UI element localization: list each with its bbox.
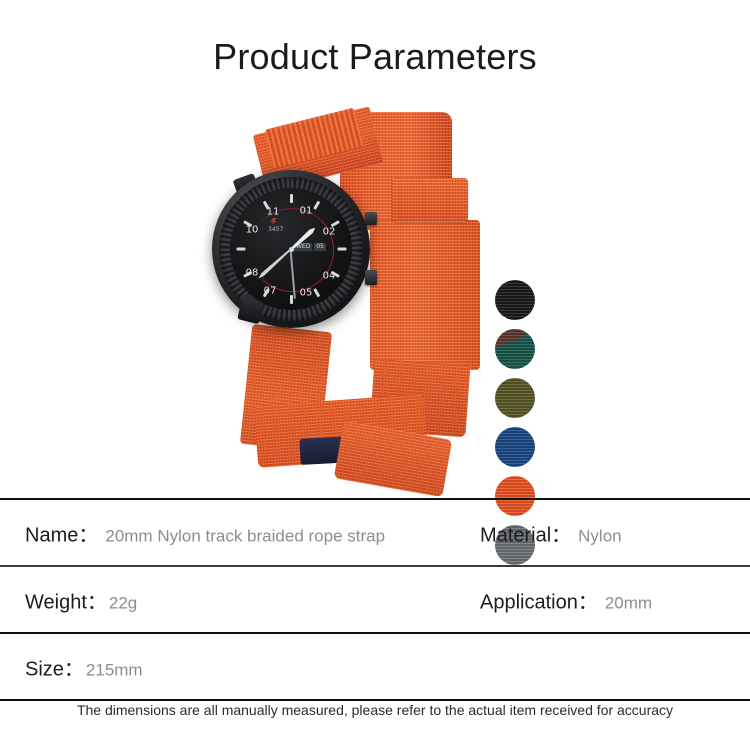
- swatch-split-overlay: [495, 329, 526, 348]
- dial-tick: [290, 295, 293, 304]
- param-material-value: Nylon: [578, 526, 621, 546]
- param-name-value: 20mm Nylon track braided rope strap: [105, 526, 385, 546]
- table-row: Size： 215mm: [0, 634, 750, 699]
- param-material: Material： Nylon: [480, 518, 622, 547]
- dial-center-pin: [289, 247, 294, 252]
- dial-hour-08: 08: [246, 268, 259, 279]
- weave-texture: [370, 220, 480, 370]
- color-swatch-dark-green[interactable]: [495, 329, 535, 369]
- strap-keeper-loop: [392, 178, 468, 222]
- param-weight-label: Weight：: [25, 585, 107, 614]
- param-application: Application： 20mm: [480, 585, 652, 614]
- param-size-label: Size：: [25, 652, 84, 681]
- param-name-label: Name：: [25, 518, 98, 547]
- dial-step-count: 3457: [268, 226, 283, 233]
- param-name: Name： 20mm Nylon track braided rope stra…: [25, 518, 385, 547]
- dial-hour-07: 07: [264, 286, 277, 297]
- dial-hour-11: 11: [267, 207, 280, 218]
- table-row: Name： 20mm Nylon track braided rope stra…: [0, 500, 750, 565]
- smartwatch: 01 02 04 05 07 08 10 11 3457 WED 05: [212, 170, 370, 328]
- param-material-label: Material：: [480, 518, 571, 547]
- param-size-value: 215mm: [86, 660, 143, 680]
- param-weight: Weight： 22g: [25, 585, 137, 614]
- table-row: Weight： 22g Application： 20mm: [0, 567, 750, 632]
- dial-hour-04: 04: [323, 271, 336, 282]
- dial-date-number: 05: [314, 243, 326, 251]
- dial-tick: [290, 194, 293, 203]
- param-size: Size： 215mm: [25, 652, 143, 681]
- dial-hour-02: 02: [323, 227, 336, 238]
- color-swatch-olive-green[interactable]: [495, 378, 535, 418]
- dial-tick: [236, 248, 245, 251]
- dial-hour-05: 05: [300, 288, 313, 299]
- weave-texture: [392, 178, 468, 222]
- measurement-disclaimer: The dimensions are all manually measured…: [0, 702, 750, 718]
- watch-dial: 01 02 04 05 07 08 10 11 3457 WED 05: [230, 188, 352, 310]
- param-application-value: 20mm: [605, 593, 652, 613]
- product-parameters-page: Product Parameters: [0, 0, 750, 750]
- page-title: Product Parameters: [0, 36, 750, 78]
- watch-crown-lower: [365, 270, 377, 285]
- watch-crown-upper: [365, 212, 377, 225]
- color-swatch-navy-blue[interactable]: [495, 427, 535, 467]
- param-application-label: Application：: [480, 585, 598, 614]
- product-image: 01 02 04 05 07 08 10 11 3457 WED 05: [0, 100, 750, 498]
- parameter-table: Name： 20mm Nylon track braided rope stra…: [0, 498, 750, 701]
- dial-tick: [337, 248, 346, 251]
- strap-right-tail: [370, 220, 480, 370]
- param-weight-value: 22g: [109, 593, 137, 613]
- table-bottom-rule: [0, 699, 750, 701]
- dial-tick: [313, 288, 320, 297]
- dial-hour-10: 10: [246, 225, 259, 236]
- dial-hour-01: 01: [300, 206, 313, 217]
- dial-tick: [313, 201, 320, 210]
- color-swatch-black[interactable]: [495, 280, 535, 320]
